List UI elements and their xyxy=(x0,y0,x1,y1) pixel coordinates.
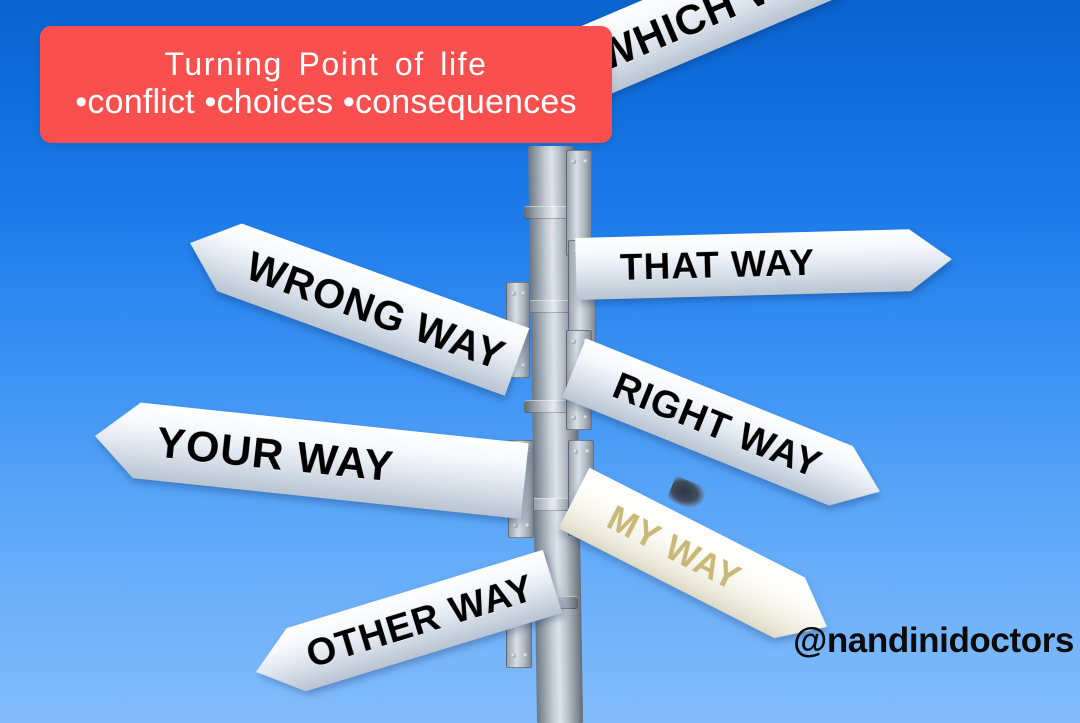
sign-label: RIGHT WAY xyxy=(566,348,828,487)
sign-other-way: OTHER WAY xyxy=(246,550,562,704)
caption-line-bullets: •conflict •choices •consequences xyxy=(75,84,576,121)
sign-wrong-way: WRONG WAY xyxy=(178,209,530,396)
caption-line-title: Turning Point of life xyxy=(164,47,487,82)
sign-label: THAT WAY xyxy=(575,242,815,290)
bird-silhouette-icon xyxy=(666,476,707,513)
signpost-image: WHICH WAY? THAT WAY RIGHT WAY MY WAY WRO… xyxy=(0,0,1080,723)
caption-banner: Turning Point of life •conflict •choices… xyxy=(40,26,612,143)
sign-that-way: THAT WAY xyxy=(575,228,952,300)
watermark-handle: @nandinidoctors xyxy=(793,621,1074,661)
sign-your-way: YOUR WAY xyxy=(91,398,529,519)
sign-label: WRONG WAY xyxy=(182,221,512,379)
